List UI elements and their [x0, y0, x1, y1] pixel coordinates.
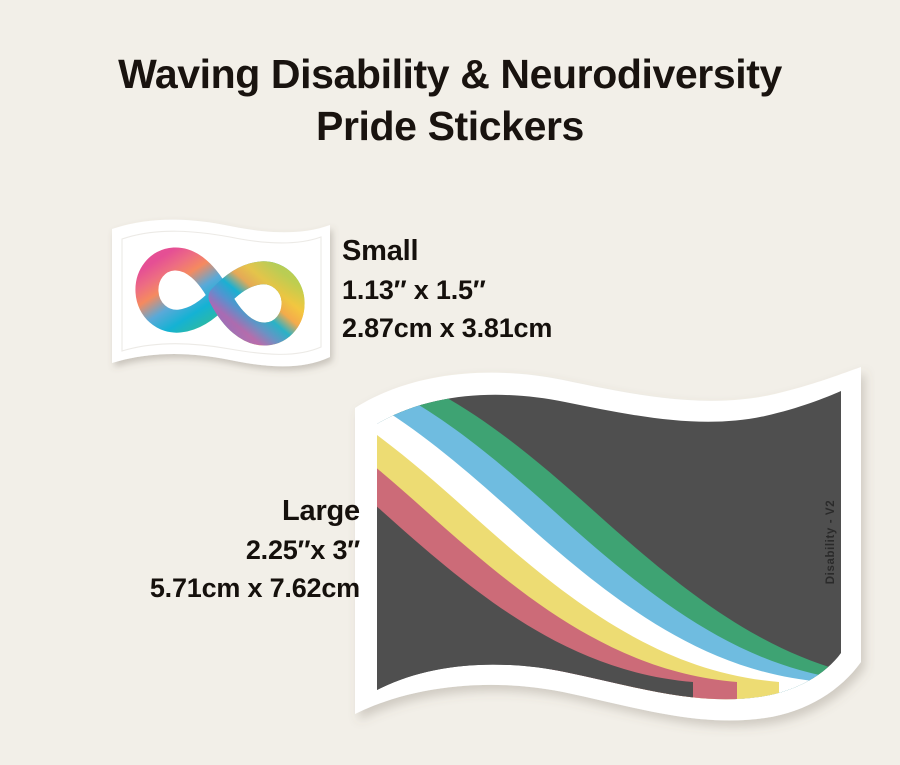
small-size-cm: 2.87cm x 3.81cm: [342, 309, 552, 347]
small-sticker-image: [96, 205, 346, 390]
small-size-label: Small: [342, 232, 552, 271]
small-size-info: Small 1.13″ x 1.5″ 2.87cm x 3.81cm: [342, 232, 552, 347]
page-title-line-2: Pride Stickers: [0, 100, 900, 152]
large-size-inches: 2.25″x 3″: [60, 531, 360, 569]
large-sticker-image: Disability - V2: [345, 362, 875, 737]
page-title-line-1: Waving Disability & Neurodiversity: [0, 48, 900, 100]
large-size-label: Large: [60, 492, 360, 531]
corner-label: Disability - V2: [825, 500, 837, 584]
page-title: Waving Disability & Neurodiversity Pride…: [0, 48, 900, 152]
large-size-cm: 5.71cm x 7.62cm: [60, 569, 360, 607]
large-size-info: Large 2.25″x 3″ 5.71cm x 7.62cm: [60, 492, 360, 607]
corner-label-text: Disability - V2: [825, 500, 837, 584]
sticker-product-sheet: Waving Disability & Neurodiversity Pride…: [0, 0, 900, 765]
small-size-inches: 1.13″ x 1.5″: [342, 271, 552, 309]
